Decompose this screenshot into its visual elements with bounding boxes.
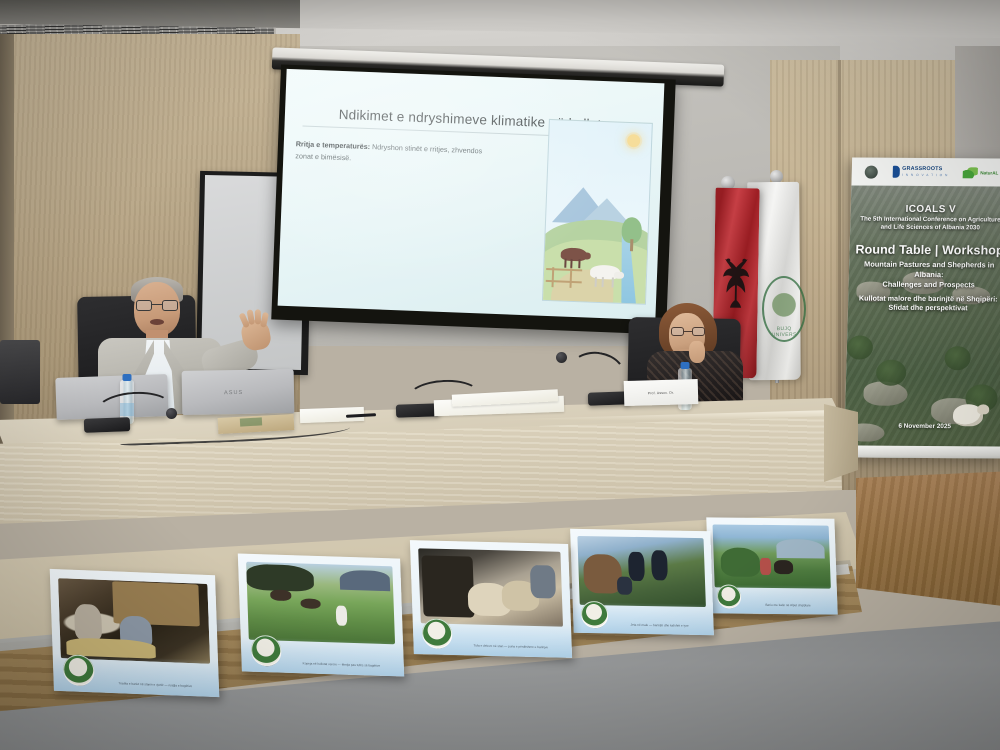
fence-icon (546, 268, 583, 283)
banner-date: 6 November 2025 (845, 422, 1000, 430)
university-seal-logo (865, 165, 878, 178)
banner-base (844, 445, 1000, 458)
grassroots-logo-sublabel: I N N O V A T I O N (902, 173, 948, 177)
university-emblem-text: BUJQ UNIVERS (764, 326, 804, 338)
laptop-brand-label: ASUS (224, 390, 250, 397)
poster-hillside-herd[interactable]: Kopeja në kullotat verore — fëmija pas t… (238, 553, 404, 676)
hand (689, 341, 705, 363)
banner-subtitle-en: Mountain Pastures and Shepherds in Alban… (853, 259, 1000, 290)
poster-photo (246, 562, 395, 644)
roll-up-banner: GRASSROOTS I N N O V A T I O N NaturAL (844, 157, 1000, 458)
poster-barn-shepherds[interactable]: Tradita e bariut në stanin e vjetër — ru… (50, 569, 220, 697)
name-card: Prof. Assoc. Dr. (624, 379, 699, 406)
banner-background-photo: ICOALS V The 5th International Conferenc… (844, 185, 1000, 458)
poster-mountain-people[interactable]: Jeta në male — barinjtë dhe kafshët e ty… (570, 529, 714, 635)
poster-alps-horse[interactable]: Bariu me kalin në Alpet shqiptare (706, 517, 837, 614)
banner-acronym: ICOALS V (856, 204, 1000, 216)
name-card-text: Prof. Assoc. Dr. (648, 390, 675, 395)
banner-title: Round Table | Workshop (854, 242, 1000, 257)
projector-screen: Ndikimet e ndryshimeve klimatike në kull… (278, 69, 665, 320)
cow-brown-head (582, 252, 591, 259)
microphone-capsule (166, 408, 177, 419)
sun-icon (627, 134, 640, 147)
project-logo-icon (581, 601, 609, 628)
glasses-icon (136, 300, 178, 311)
poster-sheep-flock[interactable]: Tufa e deleve në stan — puna e përditshm… (410, 540, 572, 658)
grassroots-logo: GRASSROOTS I N N O V A T I O N (893, 165, 949, 178)
banner-subtitle-sq: Kullotat malore dhe barinjtë në Shqipëri… (853, 293, 1000, 313)
poster-photo (58, 578, 210, 664)
glasses-icon (671, 327, 705, 336)
slide-body: Rritja e temperaturës: Ndryshon stinët e… (295, 138, 501, 170)
cow-white-head (614, 272, 624, 279)
banner-text-block: ICOALS V The 5th International Conferenc… (848, 203, 1000, 313)
mouth (150, 319, 164, 325)
microphone-capsule (556, 352, 567, 363)
banner-logo-strip: GRASSROOTS I N N O V A T I O N NaturAL (851, 157, 1000, 186)
university-emblem-icon: BUJQ UNIVERS (762, 276, 807, 342)
sheep-head (977, 404, 989, 414)
floor-wood-right (856, 470, 1000, 610)
poster-photo (713, 524, 831, 589)
tree-trunk (630, 239, 633, 251)
poster-caption: Bariu me kalin në Alpet shqiptare (745, 603, 831, 609)
av-equipment-box (0, 340, 40, 404)
slide-body-lead: Rritja e temperaturës: (296, 139, 371, 151)
poster-photo (577, 536, 706, 607)
conference-hall-photo: Ndikimet e ndryshimeve klimatike në kull… (0, 0, 1000, 750)
pasture-landscape-illustration (542, 119, 653, 305)
green-leaf-logo-label: NaturAL (980, 170, 998, 175)
banner-conference-line: The 5th International Conference on Agri… (855, 216, 1000, 234)
poster-photo (418, 548, 563, 627)
green-leaf-logo: NaturAL (963, 166, 998, 179)
